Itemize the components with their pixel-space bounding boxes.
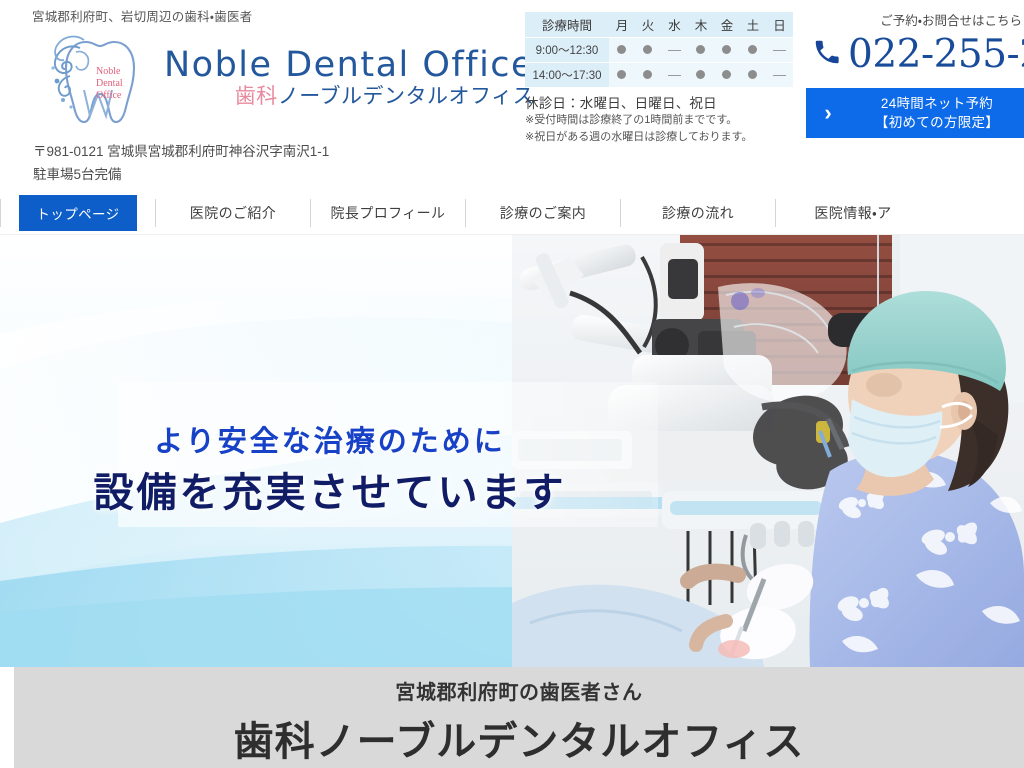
opening-hours-table: 診療時間 月 火 水 木 金 土 日 9:00〜12:30 <box>525 12 793 88</box>
schedule-note-1: ※受付時間は診療終了の1時間前までです。 <box>525 112 793 129</box>
closed-mark-icon <box>773 50 786 51</box>
contact-block: ご予約・お問合せはこちら 022-255-2 › 24時間ネット予約 【初めての… <box>800 10 1024 74</box>
col-header-1: 月 <box>609 12 635 37</box>
banner-title: 歯科ノーブルデンタルオフィス <box>14 709 1024 767</box>
logo-jp-navy: ノーブルデンタルオフィス <box>278 85 534 108</box>
reserve-label-line1: 24時間ネット予約 <box>881 96 993 111</box>
svg-text:Dental: Dental <box>96 78 123 89</box>
svg-text:Noble: Noble <box>96 66 121 77</box>
closed-mark-icon <box>773 75 786 76</box>
page-root: 宮城郡利府町、岩切周辺の歯科・歯医者 <box>0 0 1024 768</box>
tooth-logo-icon: Noble Dental Office <box>40 28 162 128</box>
open-mark-icon <box>722 45 731 54</box>
svg-text:Office: Office <box>96 90 122 101</box>
row-time-1: 14:00〜17:30 <box>525 62 609 87</box>
col-header-0: 診療時間 <box>525 12 609 37</box>
nav-item-treatment-flow[interactable]: 診療の流れ <box>621 196 775 230</box>
reserve-label-line2: 【初めての方限定】 <box>875 115 999 130</box>
site-header: 宮城郡利府町、岩切周辺の歯科・歯医者 <box>0 0 1024 191</box>
table-body: 9:00〜12:30 14:00〜17:30 <box>525 37 793 87</box>
col-header-2: 火 <box>635 12 661 37</box>
nav-item-clinic-info-access[interactable]: 医院情報・ア <box>776 196 930 230</box>
table-header-row: 診療時間 月 火 水 木 金 土 日 <box>525 12 793 37</box>
cell-0-6 <box>766 37 793 62</box>
main-navigation: トップページ 医院のご紹介 院長プロフィール 診療のご案内 診療の流れ 医院情報… <box>0 191 1024 235</box>
address-line-1: 〒981-0121 宮城県宮城郡利府町神谷沢字南沢1-1 <box>33 140 329 163</box>
col-header-5: 金 <box>714 12 740 37</box>
nav-item-treatment-guide[interactable]: 診療のご案内 <box>466 196 620 230</box>
cell-1-2 <box>661 62 688 87</box>
hero-headline-line1: より安全な治療のために <box>0 418 660 460</box>
hero-headline-line2: 設備を充実させています <box>0 460 660 518</box>
phone-row[interactable]: 022-255-2 <box>800 35 1024 74</box>
logo-jp-pink: 歯科 <box>235 85 278 108</box>
schedule-block: 診療時間 月 火 水 木 金 土 日 9:00〜12:30 <box>525 12 793 146</box>
cell-1-0 <box>609 62 635 87</box>
schedule-note-2: ※祝日がある週の水曜日は診療しております。 <box>525 129 793 146</box>
logo-japanese: 歯科ノーブルデンタルオフィス <box>164 85 534 109</box>
cell-0-4 <box>714 37 740 62</box>
site-logo[interactable]: Noble Dental Office Noble Dental Office … <box>40 28 534 128</box>
banner-subtitle: 宮城郡利府町の歯医者さん <box>14 667 1024 705</box>
cell-0-2 <box>661 37 688 62</box>
open-mark-icon <box>643 70 652 79</box>
nav-item-director-profile[interactable]: 院長プロフィール <box>311 196 465 230</box>
cell-0-5 <box>740 37 766 62</box>
nav-item-clinic-intro[interactable]: 医院のご紹介 <box>156 196 310 230</box>
open-mark-icon <box>696 45 705 54</box>
cell-1-3 <box>688 62 714 87</box>
nav-divider <box>0 199 1 227</box>
col-header-6: 土 <box>740 12 766 37</box>
address-line-2: 駐車場5台完備 <box>33 163 329 186</box>
open-mark-icon <box>696 70 705 79</box>
table-row: 9:00〜12:30 <box>525 37 793 62</box>
col-header-7: 日 <box>766 12 793 37</box>
reserve-button-label: 24時間ネット予約 【初めての方限定】 <box>850 94 1024 132</box>
closed-mark-icon <box>668 75 681 76</box>
cell-1-4 <box>714 62 740 87</box>
open-mark-icon <box>748 70 757 79</box>
closed-mark-icon <box>668 50 681 51</box>
hero-banner[interactable]: より安全な治療のために 設備を充実させています <box>0 235 1024 667</box>
phone-icon <box>812 37 842 72</box>
cell-0-0 <box>609 37 635 62</box>
table-row: 14:00〜17:30 <box>525 62 793 87</box>
logo-english: Noble Dental Office <box>164 47 534 84</box>
cell-0-3 <box>688 37 714 62</box>
chevron-right-icon: › <box>806 102 850 124</box>
open-mark-icon <box>617 70 626 79</box>
bottom-banner: 宮城郡利府町の歯医者さん 歯科ノーブルデンタルオフィス <box>14 667 1024 768</box>
open-mark-icon <box>617 45 626 54</box>
open-mark-icon <box>643 45 652 54</box>
nav-item-top[interactable]: トップページ <box>19 195 137 231</box>
cell-1-5 <box>740 62 766 87</box>
open-mark-icon <box>722 70 731 79</box>
site-tagline: 宮城郡利府町、岩切周辺の歯科・歯医者 <box>32 6 252 25</box>
clinic-address: 〒981-0121 宮城県宮城郡利府町神谷沢字南沢1-1 駐車場5台完備 <box>33 140 329 186</box>
closed-days-label: 休診日：水曜日、日曜日、祝日 <box>525 92 793 112</box>
open-mark-icon <box>748 45 757 54</box>
online-reservation-button[interactable]: › 24時間ネット予約 【初めての方限定】 <box>806 88 1024 138</box>
phone-number[interactable]: 022-255-2 <box>848 35 1024 74</box>
col-header-4: 木 <box>688 12 714 37</box>
cell-0-1 <box>635 37 661 62</box>
col-header-3: 水 <box>661 12 688 37</box>
cell-1-1 <box>635 62 661 87</box>
row-time-0: 9:00〜12:30 <box>525 37 609 62</box>
contact-lead-text: ご予約・お問合せはこちら <box>800 10 1024 29</box>
logo-wordmark: Noble Dental Office 歯科ノーブルデンタルオフィス <box>164 47 534 109</box>
cell-1-6 <box>766 62 793 87</box>
